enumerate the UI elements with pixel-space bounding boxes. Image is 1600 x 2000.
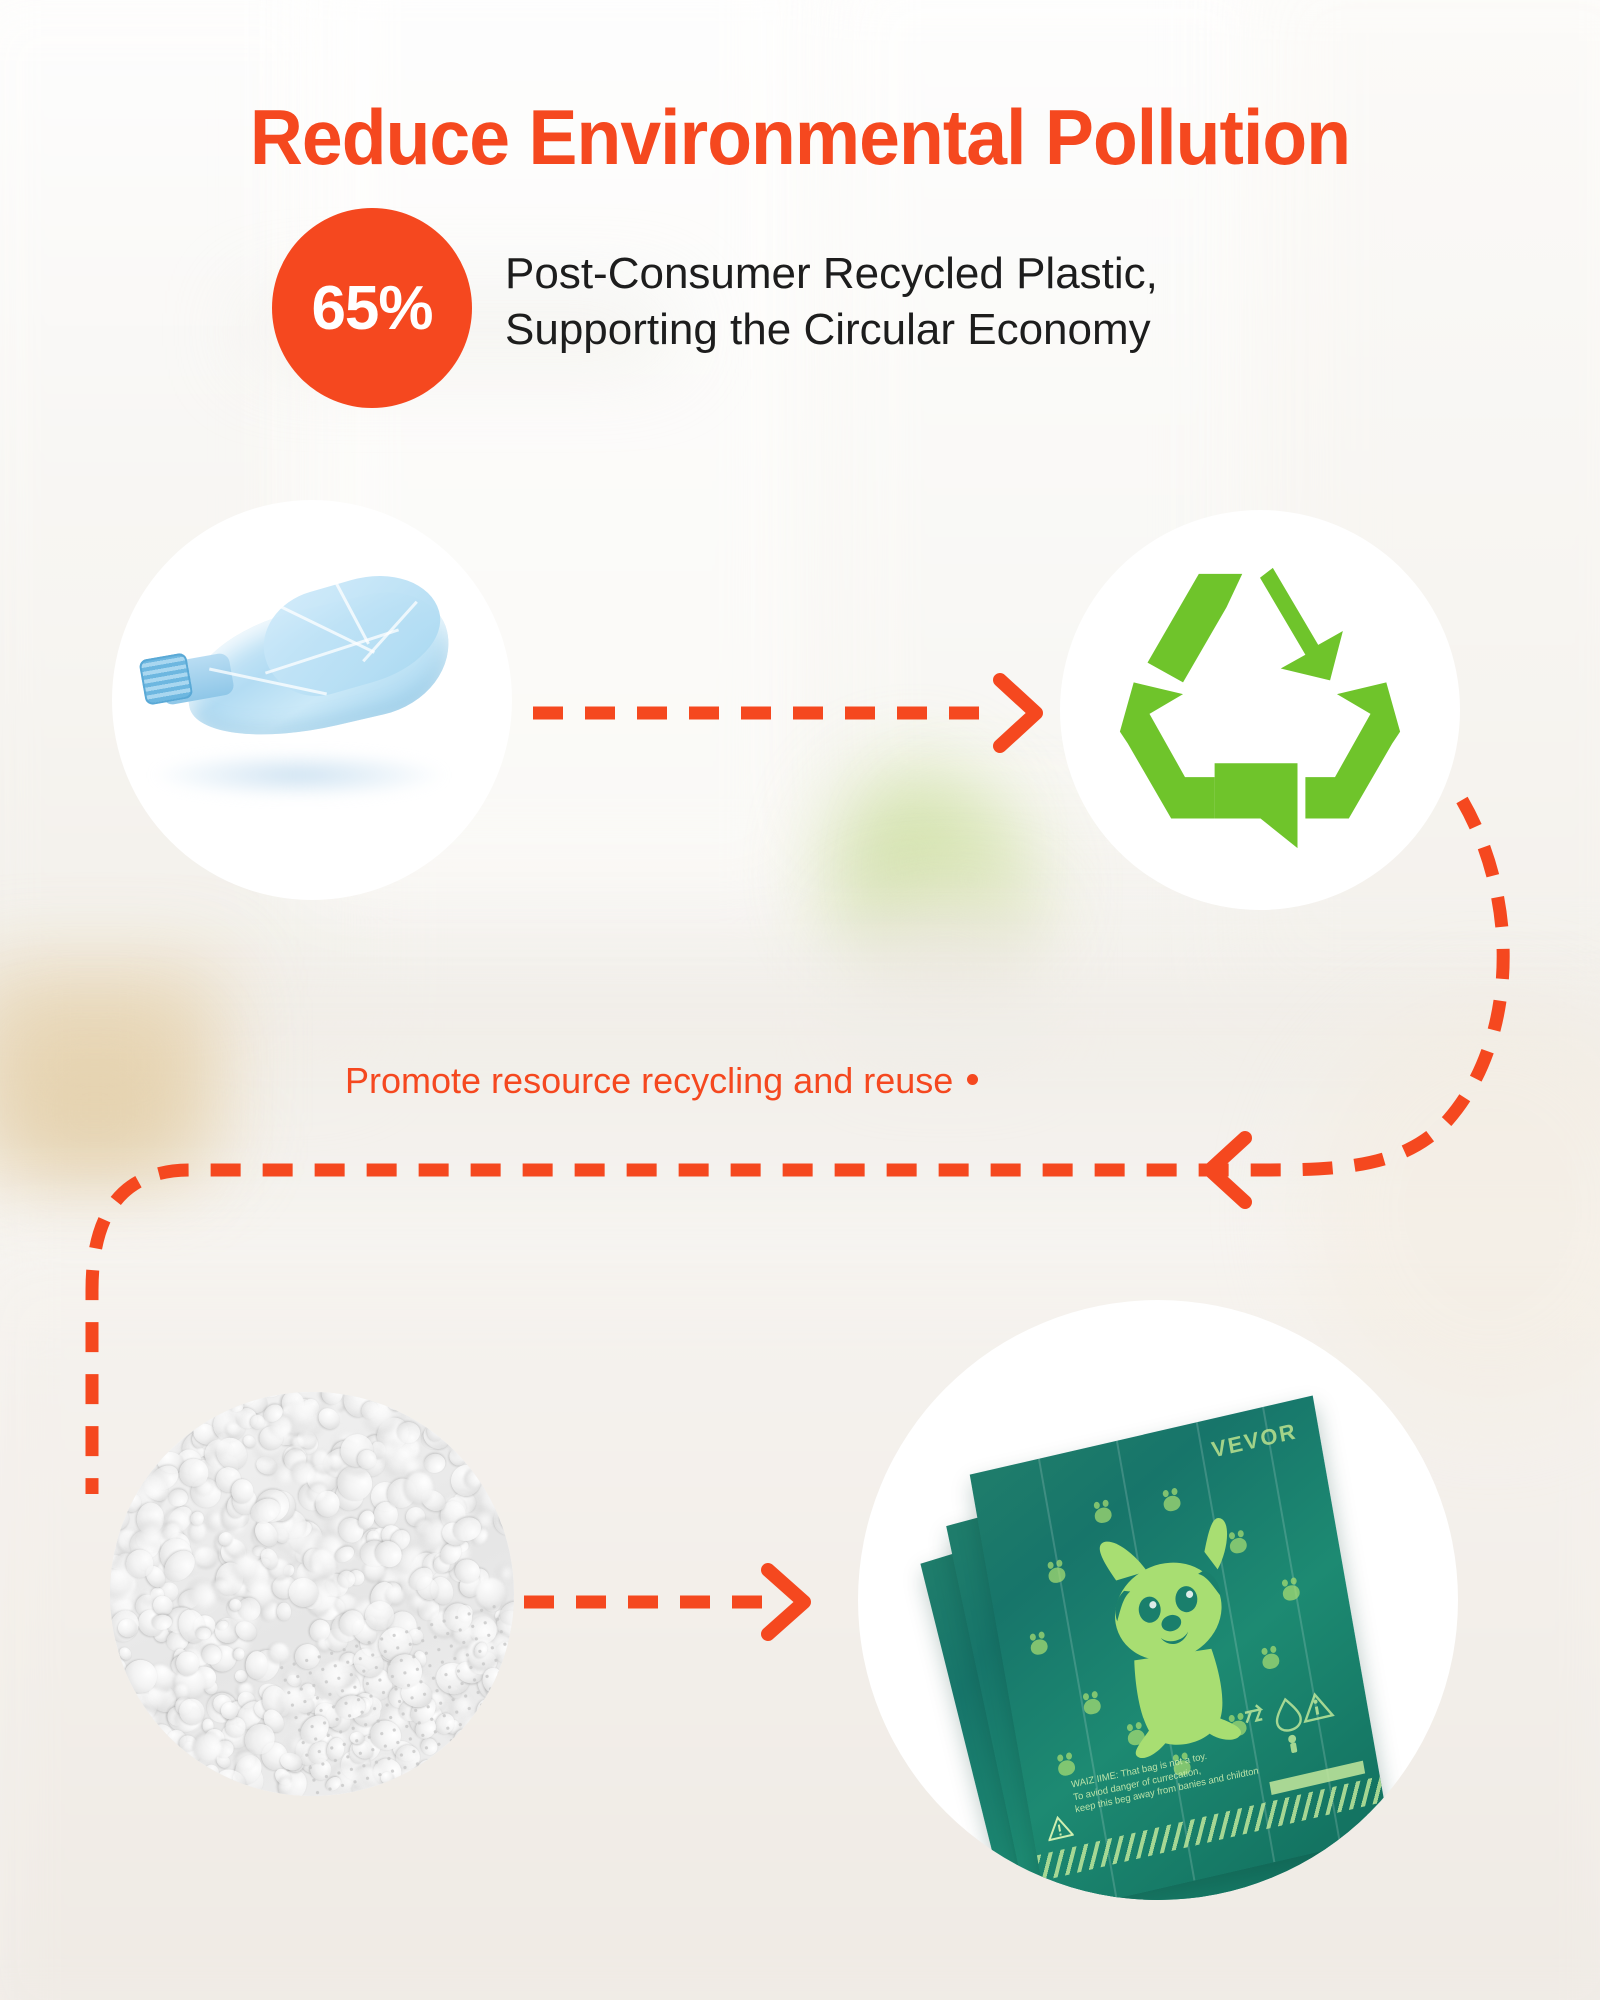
resin-pellet	[487, 1452, 513, 1476]
resin-pellet	[422, 1452, 446, 1474]
background-wood-block-2	[10, 1035, 180, 1185]
subtitle-line-2: Supporting the Circular Economy	[505, 302, 1505, 358]
badge-value: 65%	[311, 273, 432, 344]
resin-pellet	[186, 1770, 205, 1790]
bottle-shadow	[154, 752, 444, 798]
paw-print-icon	[1162, 1494, 1181, 1513]
subtitle: Post-Consumer Recycled Plastic, Supporti…	[505, 246, 1505, 359]
resin-pellet	[234, 1648, 246, 1661]
step-resin-pellets	[110, 1392, 514, 1796]
bottle-cap-ring	[138, 652, 193, 706]
paw-print-icon	[1030, 1638, 1049, 1657]
subtitle-line-1: Post-Consumer Recycled Plastic,	[505, 246, 1505, 302]
resin-pellet	[234, 1669, 247, 1682]
pet-waste-bags-image: VEVOR	[858, 1300, 1458, 1900]
flow-label-text: Promote resource recycling and reuse	[345, 1060, 953, 1101]
flow-label: Promote resource recycling and reuse	[345, 1060, 978, 1102]
resin-pellet	[193, 1545, 219, 1569]
recycle-icon	[1112, 558, 1408, 858]
step-recycling-symbol	[1060, 510, 1460, 910]
step-crushed-bottle	[112, 500, 512, 900]
resin-pellet	[458, 1397, 481, 1419]
resin-pellet	[277, 1603, 291, 1622]
hazard-triangle-icon	[1045, 1813, 1075, 1843]
crushed-bottle-image	[112, 500, 512, 900]
page-title: Reduce Environmental Pollution	[48, 92, 1552, 183]
paw-print-icon	[1094, 1506, 1113, 1525]
percentage-badge: 65%	[272, 208, 472, 408]
step-pet-waste-bags: VEVOR	[858, 1300, 1458, 1900]
resin-pellet	[245, 1650, 268, 1679]
resin-pellet	[111, 1470, 132, 1491]
bag-front: VEVOR	[970, 1395, 1391, 1900]
resin-pellet	[169, 1489, 189, 1508]
resin-pellet	[490, 1427, 514, 1452]
paw-print-icon	[1057, 1759, 1076, 1778]
brand-logo: VEVOR	[1210, 1418, 1299, 1463]
resin-pellet	[231, 1479, 254, 1503]
resin-pellet	[485, 1395, 498, 1408]
flow-label-dot-icon	[967, 1074, 978, 1085]
